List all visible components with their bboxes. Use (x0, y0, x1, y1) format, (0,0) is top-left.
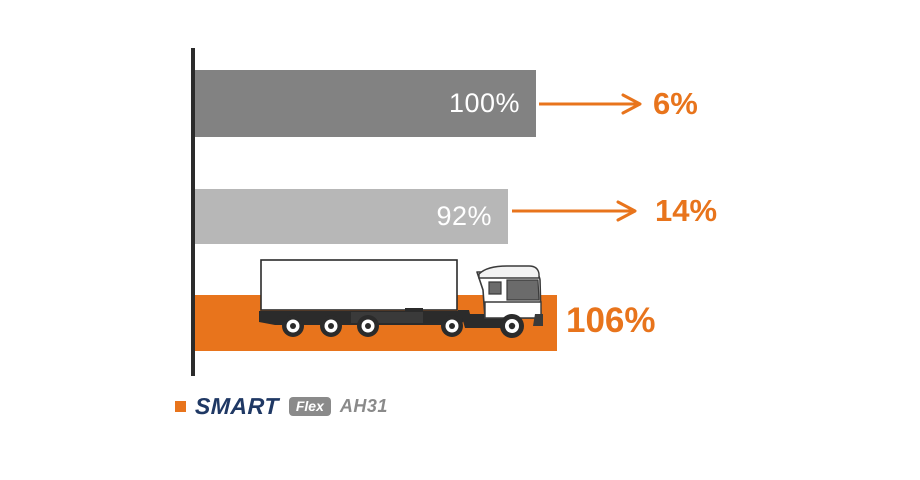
logo-model-text: AH31 (340, 397, 388, 415)
product-logo: SMART Flex AH31 (175, 393, 388, 419)
logo-variant-badge: Flex (289, 397, 331, 416)
callout-label-bottom: 106% (566, 303, 656, 338)
callout-label-middle: 14% (655, 195, 717, 226)
truck-illustration-icon (255, 256, 545, 348)
callout-arrow-top (539, 92, 647, 116)
bar-reference-100: 100% (195, 70, 536, 137)
logo-brand-text: SMART (195, 395, 280, 418)
bar-value-label: 92% (436, 203, 508, 230)
legend-color-swatch-icon (175, 401, 186, 412)
callout-label-top: 6% (653, 88, 698, 119)
bar-comparison-92: 92% (195, 189, 508, 244)
bar-value-label: 100% (449, 90, 536, 117)
chart-canvas: 100% 6% 92% 14% (0, 0, 920, 480)
callout-arrow-middle (512, 199, 642, 223)
